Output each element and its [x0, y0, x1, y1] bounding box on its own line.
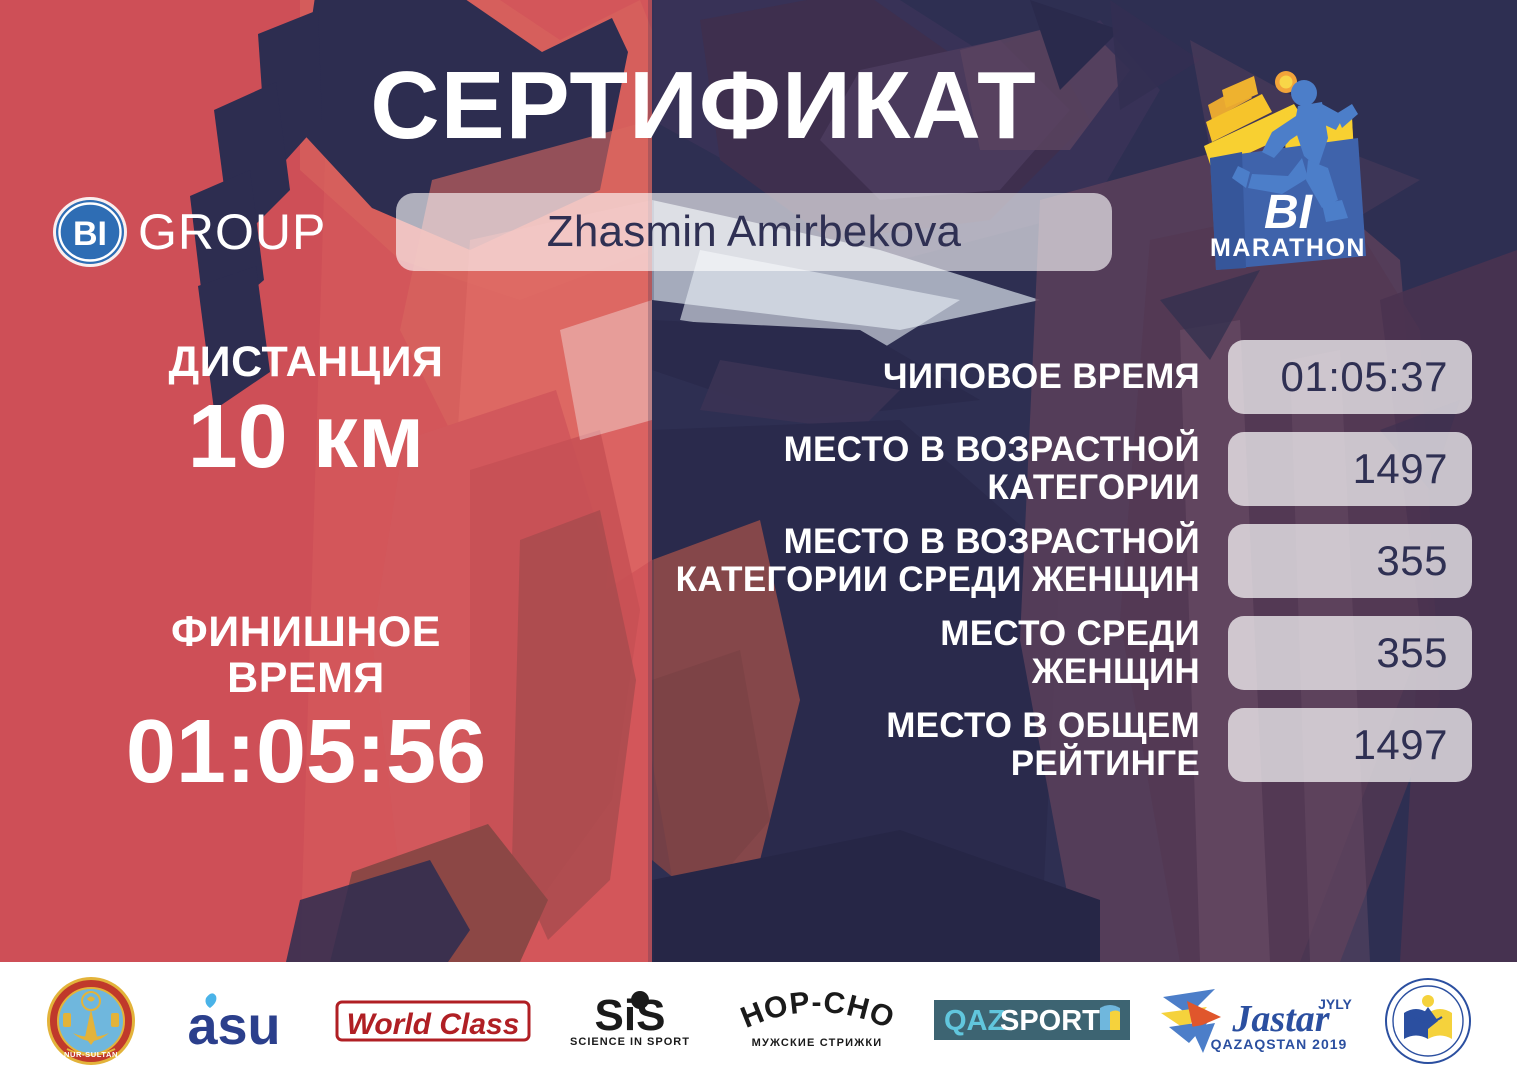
sponsor-chop-chop-logo: CHOP-CHOP МУЖСКИЕ СТРИЖКИ — [729, 990, 905, 1052]
marathon-bi-text: BI — [1264, 186, 1314, 239]
sponsor-qazsport-logo: QAZ SPORT — [934, 998, 1130, 1044]
svg-text:CHOP-CHOP: CHOP-CHOP — [729, 990, 899, 1035]
svg-text:SCIENCE IN SPORT: SCIENCE IN SPORT — [570, 1036, 690, 1048]
stat-row-age-category-place-pill: 1497 — [1228, 432, 1472, 506]
stat-row-chip-time: ЧИПОВОЕ ВРЕМЯ 01:05:37 — [470, 340, 1472, 414]
svg-text:SPORT: SPORT — [1000, 1005, 1100, 1037]
stat-row-women-place-pill: 355 — [1228, 616, 1472, 690]
participant-name-pill: Zhasmin Amirbekova — [396, 193, 1112, 271]
stat-row-chip-time-pill: 01:05:37 — [1228, 340, 1472, 414]
stat-row-age-category-women-place: МЕСТО В ВОЗРАСТНОЙ КАТЕГОРИИ СРЕДИ ЖЕНЩИ… — [470, 524, 1472, 598]
svg-text:asu: asu — [187, 996, 280, 1052]
sponsor-nur-sultan-emblem: NUR-SULTAN — [45, 975, 137, 1067]
stat-row-women-place: МЕСТО СРЕДИ ЖЕНЩИН 355 — [470, 616, 1472, 690]
sponsor-asu-logo: asu — [166, 990, 306, 1052]
svg-text:МУЖСКИЕ СТРИЖКИ: МУЖСКИЕ СТРИЖКИ — [752, 1037, 883, 1049]
bi-group-wordmark: GROUP — [138, 207, 326, 257]
stat-row-overall-place-pill: 1497 — [1228, 708, 1472, 782]
svg-text:NUR-SULTAN: NUR-SULTAN — [64, 1050, 118, 1059]
sponsor-world-class-logo: World Class — [335, 994, 531, 1048]
right-stats-list: ЧИПОВОЕ ВРЕМЯ 01:05:37 МЕСТО В ВОЗРАСТНО… — [470, 340, 1472, 800]
sponsors-footer: NUR-SULTAN asu World Class SiS SCIENCE I… — [0, 962, 1517, 1080]
sponsor-sis-logo: SiS SCIENCE IN SPORT — [560, 990, 700, 1052]
bi-badge-icon: BI — [52, 196, 128, 268]
stat-row-chip-time-value: 01:05:37 — [1281, 353, 1449, 401]
svg-text:SiS: SiS — [594, 991, 665, 1040]
stat-row-overall-place-label: МЕСТО В ОБЩЕМ РЕЙТИНГЕ — [886, 707, 1228, 783]
stat-row-age-category-women-place-pill: 355 — [1228, 524, 1472, 598]
stat-row-overall-place: МЕСТО В ОБЩЕМ РЕЙТИНГЕ 1497 — [470, 708, 1472, 782]
bi-marathon-logo: BI MARATHON — [1176, 60, 1398, 298]
svg-text:QAZ: QAZ — [944, 1005, 1005, 1037]
svg-text:QAZAQSTAN 2019: QAZAQSTAN 2019 — [1211, 1036, 1348, 1052]
sponsor-jastar-jyly-logo: Jastar JYLY QAZAQSTAN 2019 — [1159, 983, 1355, 1059]
stat-row-age-category-women-place-value: 355 — [1376, 537, 1448, 585]
stat-row-chip-time-label: ЧИПОВОЕ ВРЕМЯ — [883, 358, 1228, 396]
participant-name: Zhasmin Amirbekova — [547, 207, 961, 257]
marathon-word-text: MARATHON — [1210, 234, 1366, 262]
stat-row-age-category-women-place-label: МЕСТО В ВОЗРАСТНОЙ КАТЕГОРИИ СРЕДИ ЖЕНЩИ… — [676, 523, 1228, 599]
stat-row-overall-place-value: 1497 — [1353, 721, 1448, 769]
bi-group-logo: BI GROUP — [52, 193, 326, 271]
svg-text:JYLY: JYLY — [1318, 996, 1352, 1012]
stat-row-women-place-value: 355 — [1376, 629, 1448, 677]
svg-text:World Class: World Class — [346, 1008, 519, 1041]
svg-text:Jastar: Jastar — [1232, 998, 1331, 1040]
svg-text:BI: BI — [73, 215, 107, 253]
stat-row-age-category-place-label: МЕСТО В ВОЗРАСТНОЙ КАТЕГОРИИ — [784, 431, 1228, 507]
certificate-canvas: СЕРТИФИКАТ Zhasmin Amirbekova BI GROUP — [0, 0, 1517, 1080]
stat-row-women-place-label: МЕСТО СРЕДИ ЖЕНЩИН — [940, 615, 1228, 691]
sponsor-ministry-emblem — [1384, 977, 1472, 1065]
stat-row-age-category-place: МЕСТО В ВОЗРАСТНОЙ КАТЕГОРИИ 1497 — [470, 432, 1472, 506]
stat-row-age-category-place-value: 1497 — [1353, 445, 1448, 493]
